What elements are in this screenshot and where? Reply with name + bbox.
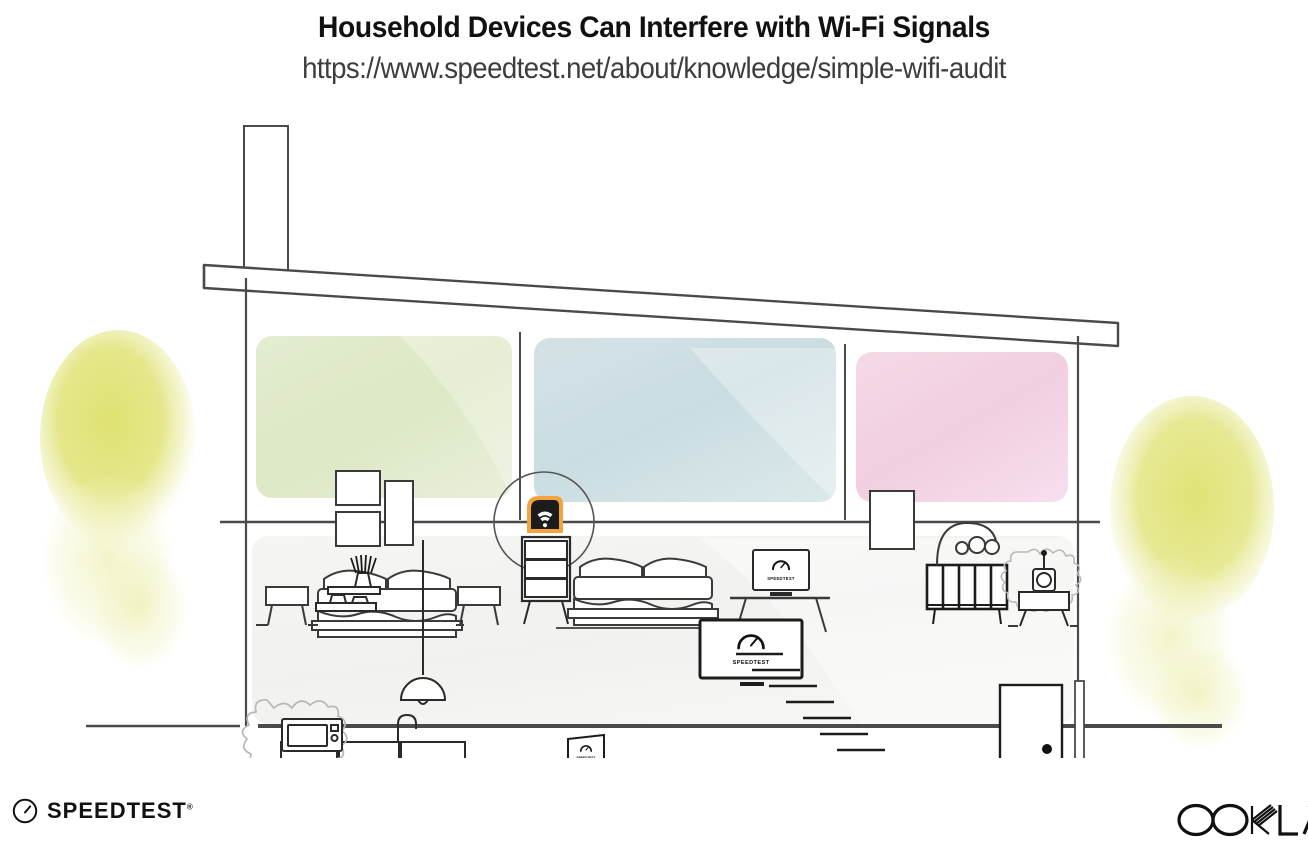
side-window (1075, 681, 1084, 758)
microwave (282, 719, 342, 751)
foliage-right (1108, 396, 1274, 748)
door-knob (1042, 744, 1052, 754)
wifi-router[interactable] (527, 496, 563, 533)
chimney (244, 126, 288, 278)
speedtest-gauge-icon (12, 798, 38, 824)
room-pink (856, 352, 1068, 502)
nursery-wall-frame (870, 491, 914, 549)
laptop-speedtest-label: SPEEDTEST (577, 756, 596, 758)
speedtest-logo: SPEEDTEST® (12, 798, 193, 824)
page-title: Household Devices Can Interfere with Wi-… (39, 0, 1269, 46)
source-url: https://www.speedtest.net/about/knowledg… (52, 46, 1255, 87)
ookla-wordmark-icon: ™ (1174, 800, 1308, 840)
ookla-logo: ™ (1174, 800, 1308, 845)
front-door[interactable] (1000, 685, 1062, 758)
speedtest-registered-mark: ® (187, 803, 193, 812)
bed-blue (568, 559, 718, 625)
tv-speedtest-label: SPEEDTEST (733, 660, 770, 666)
roof (204, 265, 1118, 346)
foliage-left (40, 330, 196, 668)
desk-monitor: SPEEDTEST (753, 550, 809, 596)
wall-frame-3 (385, 481, 413, 545)
infographic-page: Household Devices Can Interfere with Wi-… (0, 0, 1308, 861)
house-illustration: SPEEDTEST (0, 108, 1308, 758)
monitor-speedtest-label: SPEEDTEST (767, 576, 795, 581)
speedtest-wordmark: SPEEDTEST® (47, 798, 193, 824)
speedtest-wordmark-text: SPEEDTEST (47, 798, 187, 823)
laptop: SPEEDTEST (563, 735, 609, 758)
wall-frame-2 (336, 512, 380, 546)
header: Household Devices Can Interfere with Wi-… (0, 0, 1308, 86)
wall-frame-1 (336, 471, 380, 505)
footer: SPEEDTEST® (0, 780, 1308, 861)
